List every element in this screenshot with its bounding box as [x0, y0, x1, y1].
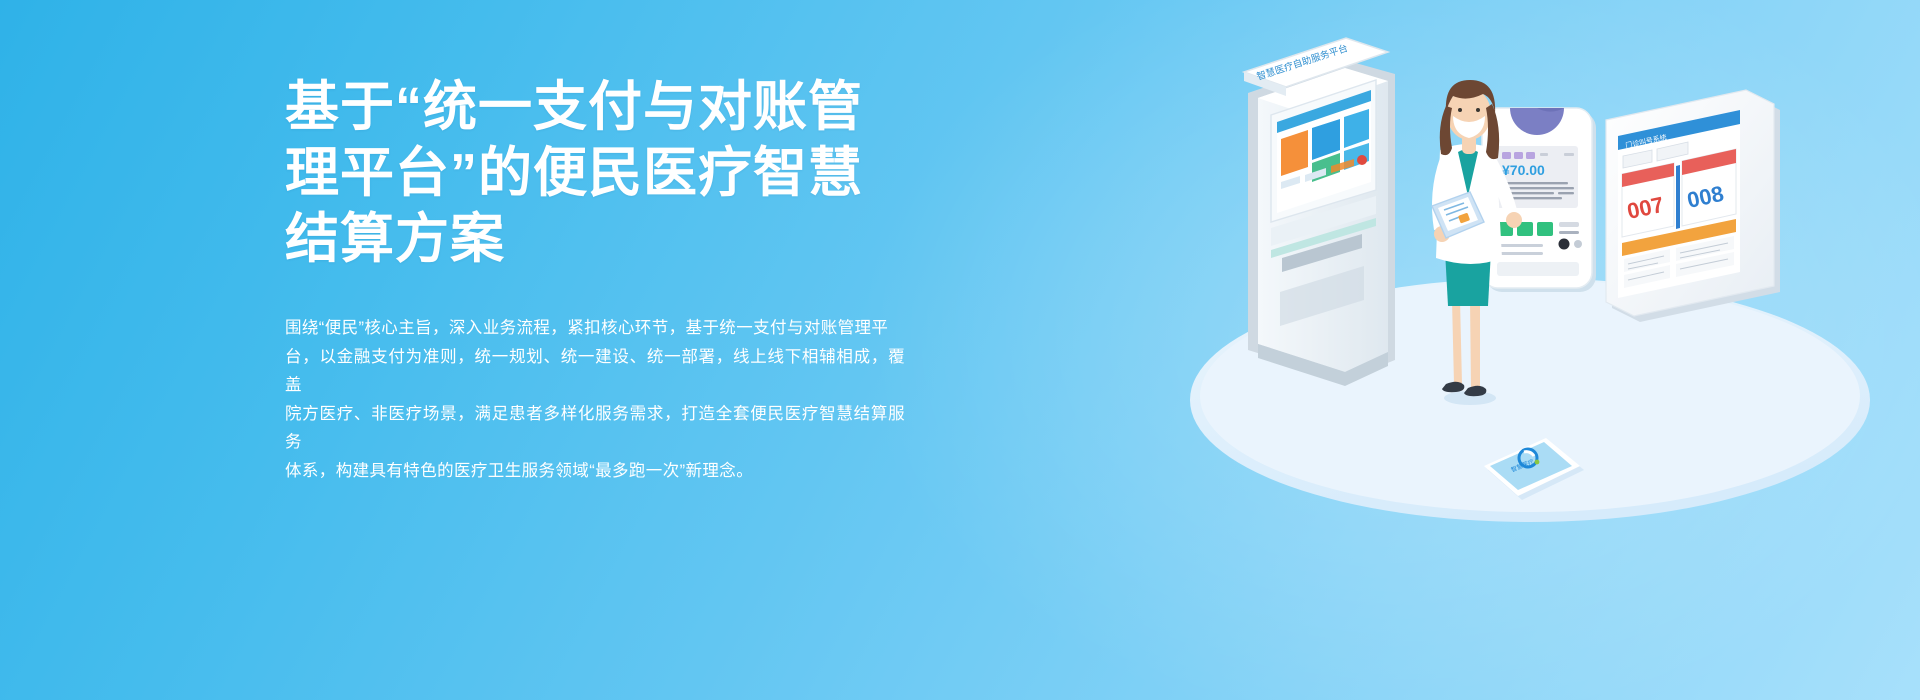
headline-line-2: 理平台”的便民医疗智慧: [285, 140, 925, 206]
description-line-1: 围绕“便民”核心主旨，深入业务流程，紧扣核心环节，基于统一支付与对账管理平: [285, 314, 905, 343]
description-line-4: 体系，构建具有特色的医疗卫生服务领域“最多跑一次”新理念。: [285, 457, 905, 486]
hero-illustration: 智慧医疗自助服务平台: [1140, 0, 1920, 700]
page-title: 基于“统一支付与对账管 理平台”的便民医疗智慧 结算方案: [285, 74, 925, 272]
headline-line-1: 基于“统一支付与对账管: [285, 74, 925, 140]
self-service-kiosk[interactable]: 智慧医疗自助服务平台: [1244, 38, 1395, 386]
headline-line-3: 结算方案: [285, 206, 925, 272]
hero-text-block: 基于“统一支付与对账管 理平台”的便民医疗智慧 结算方案 围绕“便民”核心主旨，…: [285, 74, 925, 485]
queue-display-board: 门诊叫号系统 007 008: [1606, 90, 1780, 322]
payment-terminal[interactable]: ¥70.00: [1482, 108, 1596, 292]
description-line-3: 院方医疗、非医疗场景，满足患者多样化服务需求，打造全套便民医疗智慧结算服务: [285, 400, 905, 457]
kiosk-help-icon: [1357, 155, 1367, 165]
terminal-amount: ¥70.00: [1502, 162, 1545, 178]
terminal-key-3[interactable]: [1537, 222, 1553, 236]
hero-description: 围绕“便民”核心主旨，深入业务流程，紧扣核心环节，基于统一支付与对账管理平 台，…: [285, 272, 905, 485]
terminal-round-key[interactable]: [1559, 239, 1570, 250]
description-line-2: 台，以金融支付为准则，统一规划、统一建设、统一部署，线上线下相辅相成，覆盖: [285, 343, 905, 400]
hero-banner: 基于“统一支付与对账管 理平台”的便民医疗智慧 结算方案 围绕“便民”核心主旨，…: [0, 0, 1920, 700]
doctor-hand-right: [1506, 212, 1522, 228]
